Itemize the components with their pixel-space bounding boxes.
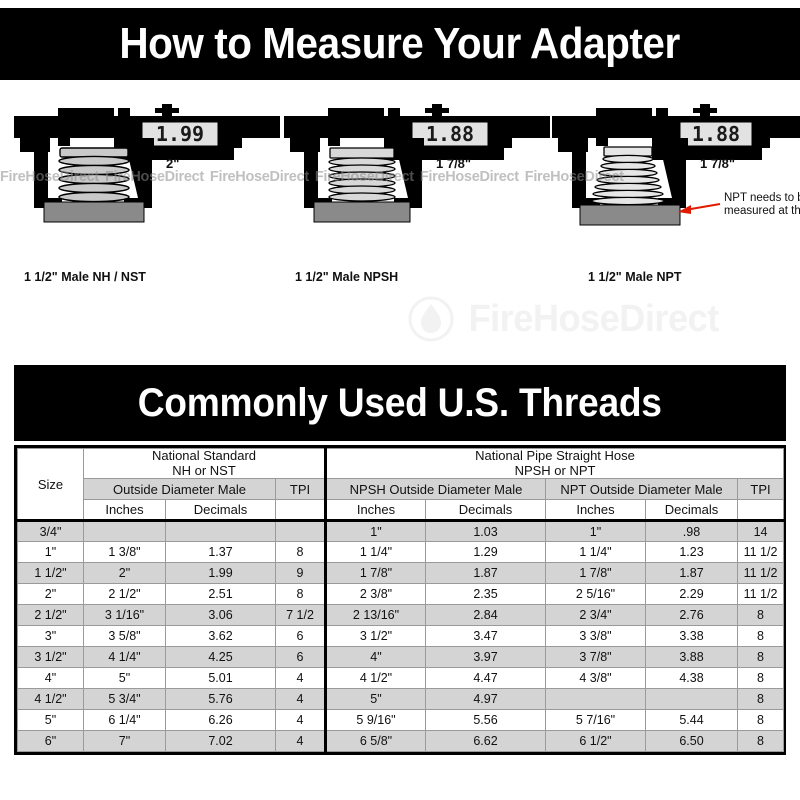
caliper-size-label: 1 7/8" — [700, 156, 735, 171]
cell-npt-decimals: 2.76 — [646, 605, 738, 626]
column-header-npsh-outside-diameter-male: NPSH Outside Diameter Male — [326, 479, 546, 500]
cell-size: 6" — [18, 731, 84, 752]
cell-nh-tpi: 8 — [276, 542, 326, 563]
cell-npt-tpi: 8 — [738, 689, 784, 710]
column-header-npt-outside-diameter-male: NPT Outside Diameter Male — [546, 479, 738, 500]
cell-npsh-inches: 6 5/8" — [326, 731, 426, 752]
column-header-nh-tpi-blank — [276, 500, 326, 521]
table-row: 4 1/2"5 3/4"5.7645"4.978 — [18, 689, 784, 710]
caliper-caption-npt: 1 1/2" Male NPT — [588, 270, 681, 284]
table-row: 3"3 5/8"3.6263 1/2"3.473 3/8"3.388 — [18, 626, 784, 647]
cell-npt-tpi: 8 — [738, 647, 784, 668]
page-title-band: How to Measure Your Adapter — [0, 8, 800, 80]
column-header-npt-decimals: Decimals — [646, 500, 738, 521]
cell-npt-tpi: 8 — [738, 605, 784, 626]
cell-size: 3 1/2" — [18, 647, 84, 668]
cell-npt-inches: 3 7/8" — [546, 647, 646, 668]
cell-nh-tpi: 7 1/2 — [276, 605, 326, 626]
cell-nh-inches: 2" — [84, 563, 166, 584]
table-row: 4"5"5.0144 1/2"4.474 3/8"4.388 — [18, 668, 784, 689]
diagram-area: 1.99 2" 1 1/2" Male NH / NST — [0, 86, 800, 358]
caliper-caption-nh-nst: 1 1/2" Male NH / NST — [24, 270, 146, 284]
cell-npsh-decimals: 1.87 — [426, 563, 546, 584]
table-row: 1"1 3/8"1.3781 1/4"1.291 1/4"1.2311 1/2 — [18, 542, 784, 563]
cell-size: 4 1/2" — [18, 689, 84, 710]
caliper-diagram-svg: 1.88 1 7/8" NP — [552, 86, 800, 286]
cell-npt-decimals: 3.88 — [646, 647, 738, 668]
cell-npt-tpi: 14 — [738, 521, 784, 542]
cell-size: 1 1/2" — [18, 563, 84, 584]
table-row: 2 1/2"3 1/16"3.067 1/22 13/16"2.842 3/4"… — [18, 605, 784, 626]
cell-npt-inches: 1 1/4" — [546, 542, 646, 563]
column-header-npsh-decimals: Decimals — [426, 500, 546, 521]
table-row: 6"7"7.0246 5/8"6.626 1/2"6.508 — [18, 731, 784, 752]
column-header-nh-inches: Inches — [84, 500, 166, 521]
threads-title: Commonly Used U.S. Threads — [138, 381, 662, 426]
cell-npt-decimals: 2.29 — [646, 584, 738, 605]
column-header-tpi-npt: TPI — [738, 479, 784, 500]
cell-npsh-decimals: 2.35 — [426, 584, 546, 605]
cell-nh-inches: 4 1/4" — [84, 647, 166, 668]
cell-npt-decimals: 4.38 — [646, 668, 738, 689]
cell-nh-inches: 2 1/2" — [84, 584, 166, 605]
cell-size: 1" — [18, 542, 84, 563]
cell-npt-inches: 3 3/8" — [546, 626, 646, 647]
cell-npsh-decimals: 4.47 — [426, 668, 546, 689]
cell-nh-tpi: 9 — [276, 563, 326, 584]
threads-title-band: Commonly Used U.S. Threads — [14, 365, 786, 441]
group-label-line1: National Standard — [84, 449, 324, 464]
caliper-figure-nh-nst: 1.99 2" — [14, 86, 280, 286]
cell-nh-inches: 6 1/4" — [84, 710, 166, 731]
cell-size: 3" — [18, 626, 84, 647]
cell-nh-decimals: 5.76 — [166, 689, 276, 710]
cell-nh-tpi: 4 — [276, 710, 326, 731]
column-header-outside-diameter-male: Outside Diameter Male — [84, 479, 276, 500]
cell-npt-inches: 5 7/16" — [546, 710, 646, 731]
caliper-figure-npsh: 1.88 1 7/8" — [284, 86, 550, 286]
column-group-national-standard: National Standard NH or NST — [84, 449, 326, 479]
caliper-reading-value: 1.88 — [426, 122, 474, 146]
cell-nh-inches: 1 3/8" — [84, 542, 166, 563]
cell-nh-tpi: 6 — [276, 647, 326, 668]
cell-size: 4" — [18, 668, 84, 689]
cell-npsh-decimals: 1.29 — [426, 542, 546, 563]
threads-table: Size National Standard NH or NST Nationa… — [17, 448, 784, 752]
cell-npsh-inches: 1 7/8" — [326, 563, 426, 584]
npt-note-line2: measured at the base — [724, 205, 800, 217]
cell-npt-decimals: 5.44 — [646, 710, 738, 731]
cell-npt-decimals: 1.23 — [646, 542, 738, 563]
cell-npt-decimals: .98 — [646, 521, 738, 542]
cell-npt-decimals: 3.38 — [646, 626, 738, 647]
cell-npsh-inches: 3 1/2" — [326, 626, 426, 647]
page-title: How to Measure Your Adapter — [120, 19, 680, 69]
group-label-line1: National Pipe Straight Hose — [327, 449, 783, 464]
cell-nh-decimals: 7.02 — [166, 731, 276, 752]
cell-npsh-inches: 4 1/2" — [326, 668, 426, 689]
caliper-diagram-svg: 1.99 2" — [14, 86, 280, 286]
cell-npt-tpi: 8 — [738, 626, 784, 647]
column-header-nh-decimals: Decimals — [166, 500, 276, 521]
cell-nh-decimals: 2.51 — [166, 584, 276, 605]
table-row: 5"6 1/4"6.2645 9/16"5.565 7/16"5.448 — [18, 710, 784, 731]
cell-nh-decimals: 3.62 — [166, 626, 276, 647]
cell-npt-tpi: 8 — [738, 668, 784, 689]
column-header-npt-inches: Inches — [546, 500, 646, 521]
cell-nh-decimals: 5.01 — [166, 668, 276, 689]
cell-npsh-decimals: 5.56 — [426, 710, 546, 731]
cell-nh-inches: 7" — [84, 731, 166, 752]
column-header-npt-tpi-blank — [738, 500, 784, 521]
cell-npsh-decimals: 3.97 — [426, 647, 546, 668]
npt-note-line1: NPT needs to be — [724, 192, 800, 204]
cell-size: 2 1/2" — [18, 605, 84, 626]
cell-npt-inches: 2 3/4" — [546, 605, 646, 626]
cell-npsh-decimals: 4.97 — [426, 689, 546, 710]
cell-npsh-inches: 5" — [326, 689, 426, 710]
cell-npsh-inches: 2 13/16" — [326, 605, 426, 626]
caliper-size-label: 2" — [166, 156, 179, 171]
cell-npt-decimals — [646, 689, 738, 710]
cell-nh-decimals: 1.99 — [166, 563, 276, 584]
cell-npt-tpi: 11 1/2 — [738, 542, 784, 563]
cell-nh-inches: 5" — [84, 668, 166, 689]
cell-npt-tpi: 11 1/2 — [738, 563, 784, 584]
column-header-npsh-inches: Inches — [326, 500, 426, 521]
cell-nh-tpi: 6 — [276, 626, 326, 647]
cell-nh-inches — [84, 521, 166, 542]
cell-npt-inches: 1" — [546, 521, 646, 542]
cell-nh-inches: 3 5/8" — [84, 626, 166, 647]
cell-nh-decimals: 6.26 — [166, 710, 276, 731]
threads-table-container: Size National Standard NH or NST Nationa… — [14, 445, 786, 755]
cell-npt-decimals: 6.50 — [646, 731, 738, 752]
cell-nh-tpi: 4 — [276, 668, 326, 689]
cell-size: 2" — [18, 584, 84, 605]
caliper-caption-npsh: 1 1/2" Male NPSH — [295, 270, 398, 284]
cell-npsh-decimals: 6.62 — [426, 731, 546, 752]
cell-npsh-inches: 1 1/4" — [326, 542, 426, 563]
column-header-tpi-nh: TPI — [276, 479, 326, 500]
cell-npsh-inches: 1" — [326, 521, 426, 542]
cell-npsh-inches: 5 9/16" — [326, 710, 426, 731]
cell-npt-inches: 2 5/16" — [546, 584, 646, 605]
cell-nh-decimals — [166, 521, 276, 542]
cell-npt-tpi: 8 — [738, 731, 784, 752]
caliper-reading-value: 1.88 — [692, 122, 740, 146]
table-row: 1 1/2"2"1.9991 7/8"1.871 7/8"1.8711 1/2 — [18, 563, 784, 584]
cell-size: 3/4" — [18, 521, 84, 542]
cell-npt-tpi: 11 1/2 — [738, 584, 784, 605]
cell-npsh-decimals: 1.03 — [426, 521, 546, 542]
cell-nh-decimals: 4.25 — [166, 647, 276, 668]
table-header-row-group: Size National Standard NH or NST Nationa… — [18, 449, 784, 479]
cell-nh-decimals: 1.37 — [166, 542, 276, 563]
table-row: 3/4"1"1.031".9814 — [18, 521, 784, 542]
cell-nh-inches: 3 1/16" — [84, 605, 166, 626]
cell-size: 5" — [18, 710, 84, 731]
cell-npt-inches: 4 3/8" — [546, 668, 646, 689]
table-header-row-units: Inches Decimals Inches Decimals Inches D… — [18, 500, 784, 521]
cell-nh-tpi — [276, 521, 326, 542]
cell-npt-decimals: 1.87 — [646, 563, 738, 584]
group-label-line2: NPSH or NPT — [327, 464, 783, 479]
caliper-reading-value: 1.99 — [156, 122, 204, 146]
cell-npt-inches: 6 1/2" — [546, 731, 646, 752]
cell-npt-tpi: 8 — [738, 710, 784, 731]
caliper-figure-npt: 1.88 1 7/8" NP — [552, 86, 800, 286]
group-label-line2: NH or NST — [84, 464, 324, 479]
column-header-size: Size — [18, 449, 84, 521]
cell-npsh-inches: 4" — [326, 647, 426, 668]
cell-nh-inches: 5 3/4" — [84, 689, 166, 710]
table-row: 3 1/2"4 1/4"4.2564"3.973 7/8"3.888 — [18, 647, 784, 668]
table-header-row-sub: Outside Diameter Male TPI NPSH Outside D… — [18, 479, 784, 500]
cell-npt-inches: 1 7/8" — [546, 563, 646, 584]
cell-npsh-decimals: 2.84 — [426, 605, 546, 626]
cell-nh-tpi: 4 — [276, 689, 326, 710]
table-body: 3/4"1"1.031".98141"1 3/8"1.3781 1/4"1.29… — [18, 521, 784, 752]
table-head: Size National Standard NH or NST Nationa… — [18, 449, 784, 521]
caliper-size-label: 1 7/8" — [436, 156, 471, 171]
cell-nh-decimals: 3.06 — [166, 605, 276, 626]
caliper-diagram-svg: 1.88 1 7/8" — [284, 86, 550, 286]
table-row: 2"2 1/2"2.5182 3/8"2.352 5/16"2.2911 1/2 — [18, 584, 784, 605]
column-group-national-pipe-straight-hose: National Pipe Straight Hose NPSH or NPT — [326, 449, 784, 479]
cell-npsh-inches: 2 3/8" — [326, 584, 426, 605]
cell-nh-tpi: 8 — [276, 584, 326, 605]
cell-nh-tpi: 4 — [276, 731, 326, 752]
cell-npsh-decimals: 3.47 — [426, 626, 546, 647]
cell-npt-inches — [546, 689, 646, 710]
